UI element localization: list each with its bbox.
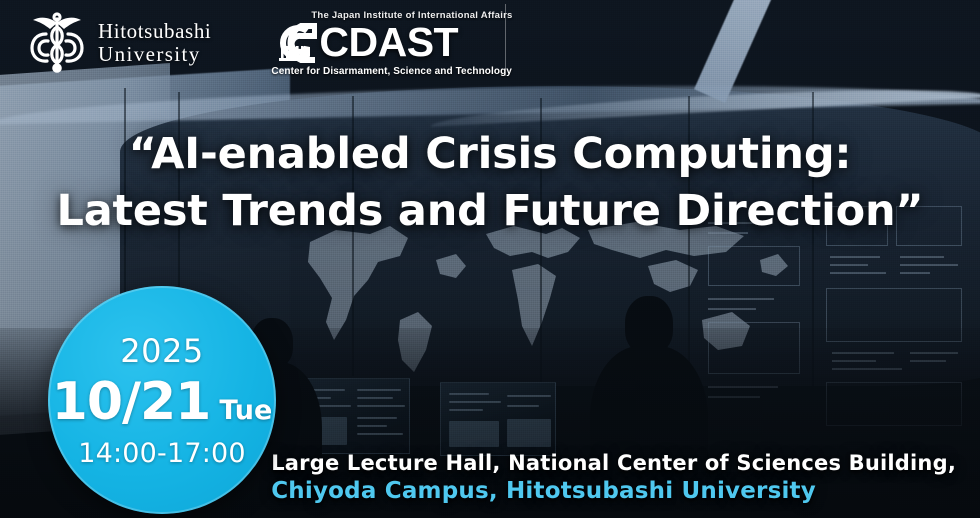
cdast-wordmark: CDAST	[319, 24, 458, 61]
hitotsubashi-line1: Hitotsubashi	[98, 19, 211, 43]
date-badge-day-of-week: Tue	[219, 395, 272, 426]
date-badge-year: 2025	[120, 332, 203, 370]
cdast-subtitle: Center for Disarmament, Science and Tech…	[271, 66, 512, 77]
jiia-parent-org-label: The Japan Institute of International Aff…	[311, 10, 512, 21]
event-poster: Hitotsubashi University The Japan Instit…	[0, 0, 980, 518]
event-title-line2: Latest Trends and Future Direction”	[40, 183, 940, 240]
event-title-line1: “AI-enabled Crisis Computing:	[40, 126, 940, 183]
date-badge-date-row: 10/21 Tue	[52, 372, 273, 432]
venue-line1: Large Lecture Hall, National Center of S…	[271, 451, 956, 475]
date-badge-time: 14:00-17:00	[78, 438, 246, 469]
hitotsubashi-wordmark: Hitotsubashi University	[98, 20, 211, 66]
event-title: “AI-enabled Crisis Computing: Latest Tre…	[0, 126, 980, 240]
hitotsubashi-crest-icon	[26, 10, 88, 76]
cdast-mark-icon	[271, 22, 317, 64]
date-badge-date: 10/21	[52, 372, 211, 432]
venue-line2: Chiyoda Campus, Hitotsubashi University	[271, 478, 956, 504]
date-badge: 2025 10/21 Tue 14:00-17:00	[48, 286, 276, 514]
cdast-logo: The Japan Institute of International Aff…	[271, 10, 512, 77]
poster-header: Hitotsubashi University The Japan Instit…	[0, 0, 980, 86]
venue-block: Large Lecture Hall, National Center of S…	[271, 451, 956, 504]
console-monitor	[440, 382, 556, 456]
hitotsubashi-line2: University	[98, 42, 201, 66]
hitotsubashi-university-logo: Hitotsubashi University	[26, 10, 211, 76]
